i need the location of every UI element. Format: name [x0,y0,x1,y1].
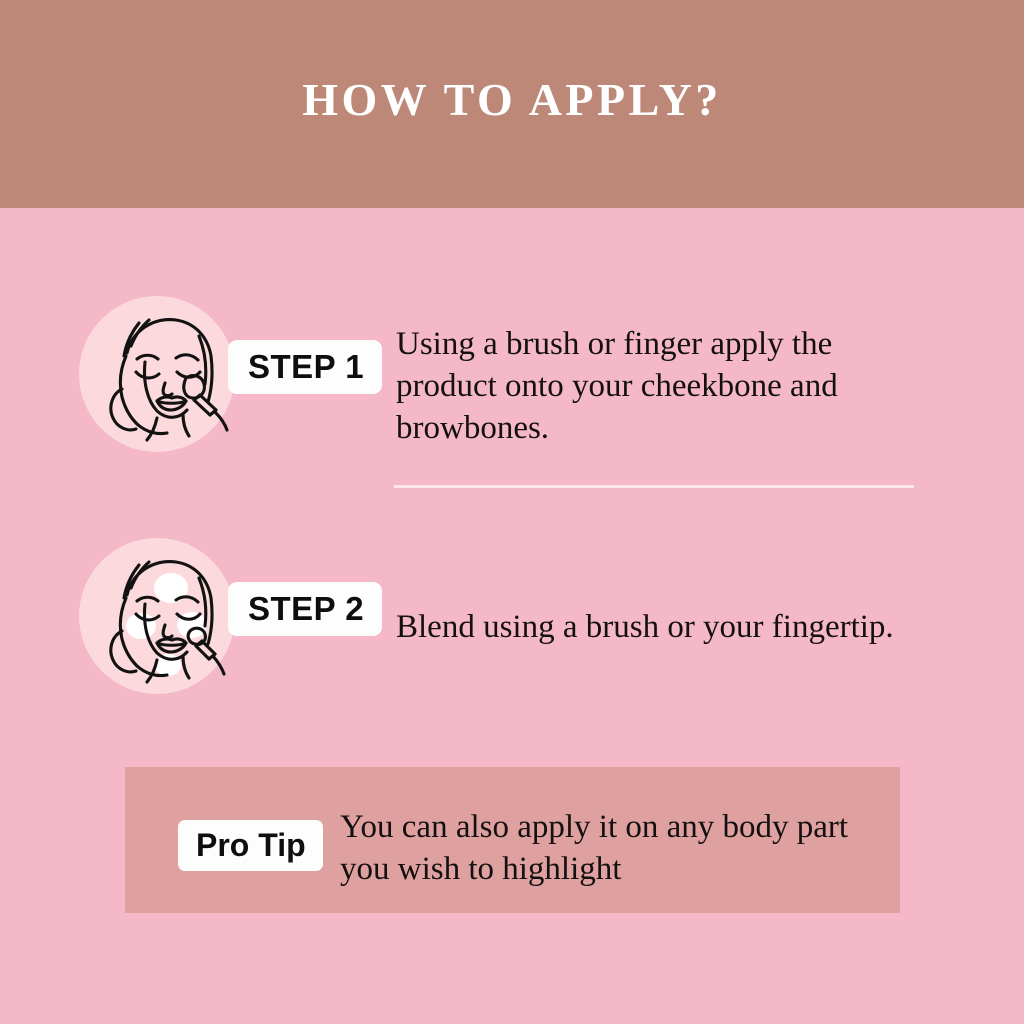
page-title: HOW TO APPLY? [0,72,1024,128]
section-divider [394,485,914,488]
step-2-badge: STEP 2 [228,582,382,636]
protip-text: You can also apply it on any body part y… [340,806,900,890]
face-with-makeup-brush-icon [79,296,235,452]
protip-badge: Pro Tip [178,820,323,871]
step-1-badge: STEP 1 [228,340,382,394]
face-with-highlighter-dots-icon [79,538,235,694]
step-2-text: Blend using a brush or your fingertip. [396,606,896,648]
step-1-text: Using a brush or finger apply the produc… [396,323,896,449]
